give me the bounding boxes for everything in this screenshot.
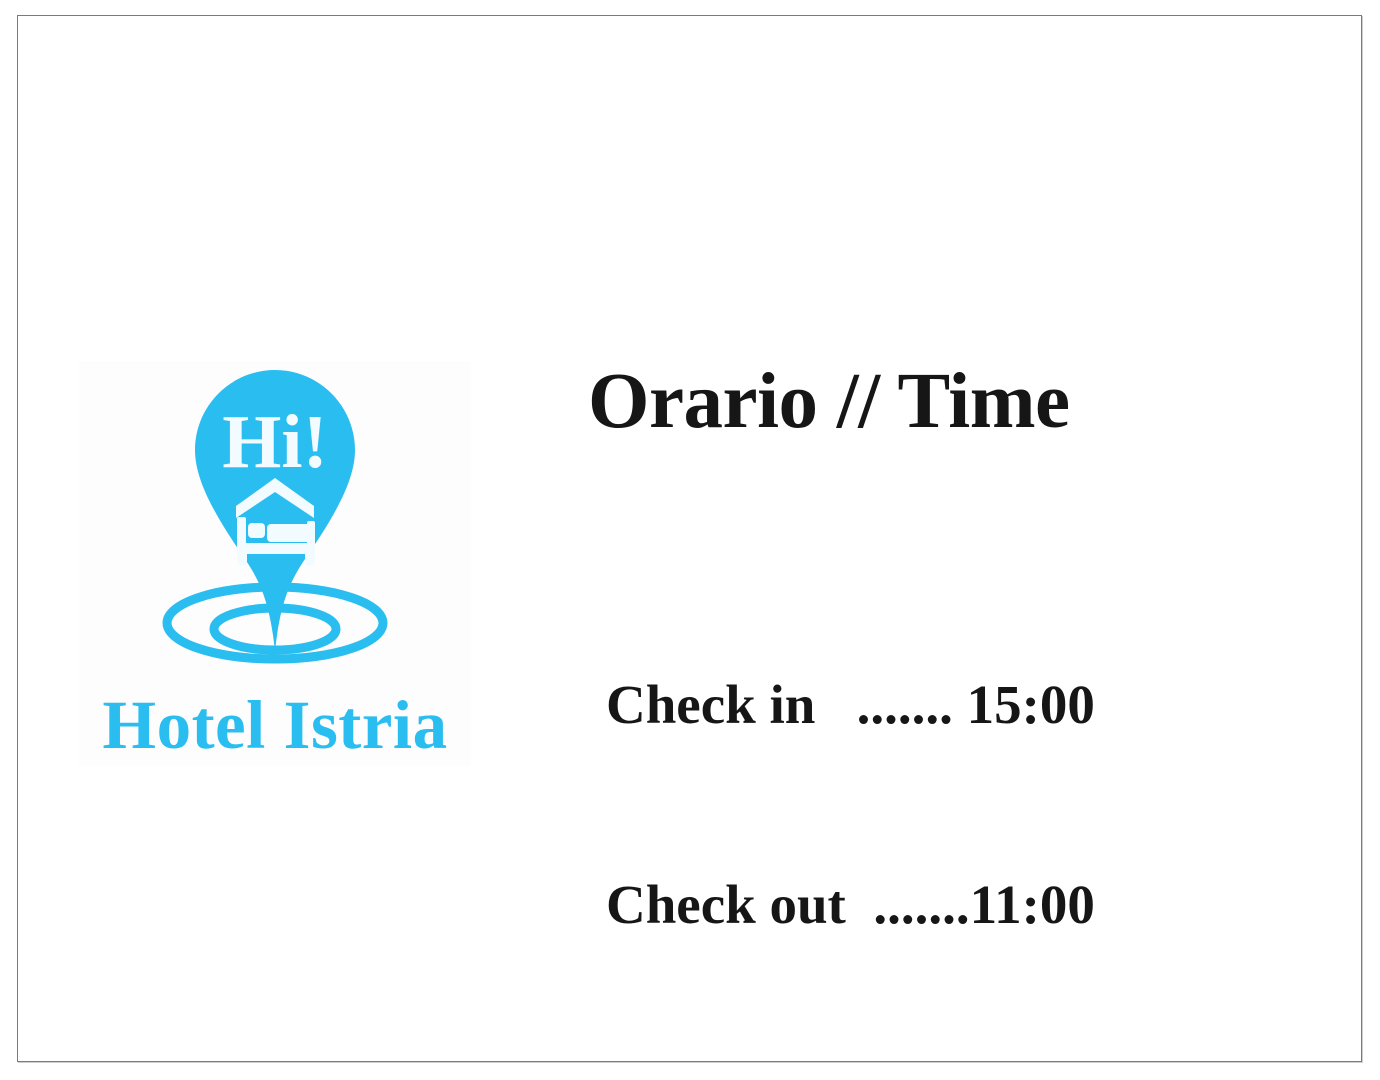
time-info-block: Orario // Time Check in ....... 15:00 Ch… [570, 361, 1310, 1072]
hotel-logo: Hi! Hotel Istria [79, 361, 471, 766]
logo-wordmark: Hotel Istria [79, 691, 471, 760]
check-in-row: Check in ....... 15:00 [606, 672, 1310, 739]
slide-frame: Hi! Hotel Istria Orari [17, 15, 1362, 1062]
check-out-row: Check out .......11:00 [606, 872, 1310, 939]
map-pin-icon: Hi! [79, 361, 471, 666]
page-title: Orario // Time [588, 361, 1310, 443]
time-rows: Check in ....... 15:00 Check out .......… [606, 539, 1310, 1071]
pin-label: Hi! [222, 400, 328, 484]
